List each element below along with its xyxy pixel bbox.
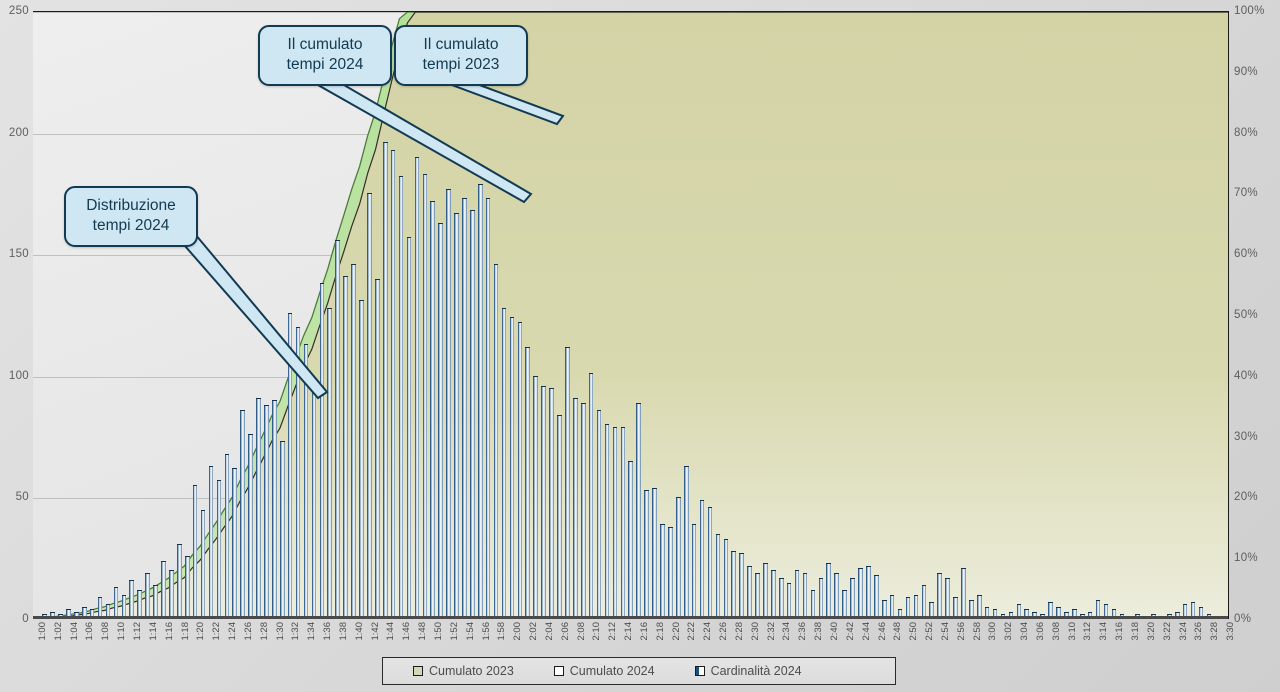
legend-swatch-icon [413, 666, 423, 676]
y-tick-right: 0% [1234, 613, 1251, 625]
x-tick-label: 2:24 [702, 622, 713, 641]
bar [486, 198, 491, 619]
x-tick-label: 2:50 [908, 622, 919, 641]
bar [573, 398, 578, 619]
bar [541, 386, 546, 619]
bar [209, 466, 214, 619]
bar [177, 544, 182, 619]
x-tick-label: 2:20 [671, 622, 682, 641]
x-tick-label: 2:40 [829, 622, 840, 641]
callout-cumulato-2024: Il cumulato tempi 2024 [258, 25, 392, 86]
x-tick-label: 2:14 [623, 622, 634, 641]
bar [811, 590, 816, 619]
bar [874, 575, 879, 619]
y-tick-right: 40% [1234, 370, 1258, 382]
bar [367, 193, 372, 619]
x-tick-label: 3:12 [1082, 622, 1093, 641]
bar [312, 383, 317, 619]
bar [850, 578, 855, 619]
x-tick-label: 3:18 [1130, 622, 1141, 641]
x-tick-label: 2:34 [781, 622, 792, 641]
x-tick-label: 3:24 [1178, 622, 1189, 641]
x-tick-label: 2:58 [972, 622, 983, 641]
bar [430, 201, 435, 619]
bar [842, 590, 847, 619]
bar [201, 510, 206, 619]
x-tick-label: 2:52 [924, 622, 935, 641]
bar [240, 410, 245, 619]
bar [232, 468, 237, 619]
bar [304, 344, 309, 619]
bar [391, 150, 396, 619]
x-tick-label: 3:10 [1067, 622, 1078, 641]
bar [961, 568, 966, 619]
x-tick-label: 3:16 [1114, 622, 1125, 641]
x-tick-label: 1:14 [148, 622, 159, 641]
bar [834, 573, 839, 619]
bar [383, 142, 388, 619]
x-tick-label: 3:22 [1162, 622, 1173, 641]
legend-item[interactable]: Cardinalità 2024 [695, 664, 802, 678]
x-tick-label: 1:24 [227, 622, 238, 641]
bar [272, 400, 277, 619]
bar [462, 198, 467, 619]
x-tick-label: 1:58 [496, 622, 507, 641]
x-tick-label: 2:44 [861, 622, 872, 641]
y-tick-left: 50 [16, 491, 29, 503]
y-tick-left: 100 [9, 370, 29, 382]
y-tick-right: 10% [1234, 552, 1258, 564]
bar [779, 578, 784, 619]
x-tick-label: 2:22 [686, 622, 697, 641]
y-tick-left: 0 [22, 613, 29, 625]
legend-label: Cumulato 2024 [570, 664, 655, 678]
bar [755, 573, 760, 619]
bar [217, 480, 222, 619]
bar [937, 573, 942, 619]
x-tick-label: 3:08 [1051, 622, 1062, 641]
bar [415, 157, 420, 619]
x-tick-label: 3:14 [1098, 622, 1109, 641]
bar [407, 237, 412, 619]
x-tick-label: 1:54 [465, 622, 476, 641]
bar [256, 398, 261, 619]
bar [597, 410, 602, 619]
bar [692, 524, 697, 619]
bar [343, 276, 348, 619]
y-tick-right: 50% [1234, 309, 1258, 321]
y-axis-right-percent: 0%10%20%30%40%50%60%70%80%90%100% [1234, 0, 1280, 692]
bar [225, 454, 230, 619]
x-tick-label: 3:04 [1019, 622, 1030, 641]
bar [296, 327, 301, 619]
bar [668, 527, 673, 619]
x-tick-label: 2:12 [607, 622, 618, 641]
bar [264, 405, 269, 619]
y-tick-left: 250 [9, 5, 29, 17]
chart-root: 050100150200250 0%10%20%30%40%50%60%70%8… [0, 0, 1280, 692]
bar [747, 566, 752, 620]
bar [826, 563, 831, 619]
x-tick-label: 1:18 [180, 622, 191, 641]
bar [739, 553, 744, 619]
y-tick-right: 90% [1234, 66, 1258, 78]
bar [137, 590, 142, 619]
y-tick-left: 200 [9, 127, 29, 139]
legend-swatch-icon [554, 666, 564, 676]
bar [731, 551, 736, 619]
plot-area [33, 11, 1229, 619]
x-tick-label: 1:26 [243, 622, 254, 641]
chart-legend: Cumulato 2023Cumulato 2024Cardinalità 20… [382, 657, 896, 685]
bar [866, 566, 871, 620]
y-axis-left: 050100150200250 [0, 0, 29, 692]
bar [652, 488, 657, 619]
x-tick-label: 3:30 [1225, 622, 1236, 641]
bar [153, 585, 158, 619]
bar [708, 507, 713, 619]
legend-swatch-icon [695, 666, 705, 676]
bar [533, 376, 538, 619]
bar [454, 213, 459, 619]
x-tick-label: 1:22 [211, 622, 222, 641]
bar [716, 534, 721, 619]
callout-distribuzione-2024: Distribuzione tempi 2024 [64, 186, 198, 247]
bar [605, 424, 610, 619]
bar [803, 573, 808, 619]
x-tick-label: 1:44 [385, 622, 396, 641]
y-tick-right: 20% [1234, 491, 1258, 503]
bar [565, 347, 570, 619]
bar [161, 561, 166, 619]
x-tick-label: 1:48 [417, 622, 428, 641]
x-tick-label: 2:36 [797, 622, 808, 641]
x-tick-label: 1:28 [259, 622, 270, 641]
bar [359, 300, 364, 619]
x-tick-label: 1:56 [481, 622, 492, 641]
bar [763, 563, 768, 619]
bar [518, 322, 523, 619]
x-tick-label: 2:16 [639, 622, 650, 641]
bar [589, 373, 594, 619]
x-tick-label: 2:00 [512, 622, 523, 641]
legend-label: Cardinalità 2024 [711, 664, 802, 678]
bar [248, 434, 253, 619]
bar [502, 308, 507, 619]
x-tick-label: 2:30 [750, 622, 761, 641]
x-tick-label: 1:30 [275, 622, 286, 641]
bar [351, 264, 356, 619]
x-tick-label: 2:38 [813, 622, 824, 641]
x-tick-label: 3:00 [987, 622, 998, 641]
y-tick-right: 30% [1234, 431, 1258, 443]
x-tick-label: 1:10 [116, 622, 127, 641]
x-tick-label: 2:32 [766, 622, 777, 641]
bar [945, 578, 950, 619]
bar [644, 490, 649, 619]
bar [129, 580, 134, 619]
bar [446, 189, 451, 619]
y-tick-right: 100% [1234, 5, 1265, 17]
x-tick-label: 2:02 [528, 622, 539, 641]
x-tick-label: 1:36 [322, 622, 333, 641]
bar [327, 308, 332, 619]
legend-item[interactable]: Cumulato 2024 [554, 664, 655, 678]
x-tick-label: 2:54 [940, 622, 951, 641]
x-tick-label: 2:28 [734, 622, 745, 641]
bar [494, 264, 499, 619]
x-tick-label: 1:38 [338, 622, 349, 641]
bar [145, 573, 150, 619]
x-tick-label: 1:46 [401, 622, 412, 641]
bar [193, 485, 198, 619]
bar [169, 570, 174, 619]
x-tick-label: 1:12 [132, 622, 143, 641]
y-tick-right: 60% [1234, 248, 1258, 260]
bar [423, 174, 428, 619]
bar [438, 223, 443, 619]
bar [621, 427, 626, 619]
bar [771, 570, 776, 619]
x-tick-label: 2:42 [845, 622, 856, 641]
x-tick-label: 2:06 [560, 622, 571, 641]
x-tick-label: 1:34 [306, 622, 317, 641]
x-tick-label: 3:28 [1209, 622, 1220, 641]
x-tick-label: 1:16 [164, 622, 175, 641]
bar [549, 388, 554, 619]
bar [185, 556, 190, 619]
x-axis-labels: 1:001:021:041:061:081:101:121:141:161:18… [33, 620, 1229, 656]
bar [557, 415, 562, 619]
bar [280, 441, 285, 619]
x-tick-label: 3:02 [1003, 622, 1014, 641]
x-tick-label: 2:56 [956, 622, 967, 641]
bar [613, 427, 618, 619]
axis-baseline [33, 616, 1228, 619]
bar [581, 403, 586, 619]
bar [288, 313, 293, 619]
y-tick-right: 80% [1234, 127, 1258, 139]
bar [470, 210, 475, 619]
x-tick-label: 1:02 [53, 622, 64, 641]
x-tick-label: 2:48 [892, 622, 903, 641]
x-tick-label: 1:04 [69, 622, 80, 641]
x-tick-label: 1:06 [84, 622, 95, 641]
bar [636, 403, 641, 619]
bar [922, 585, 927, 619]
x-tick-label: 1:50 [433, 622, 444, 641]
x-tick-label: 1:08 [100, 622, 111, 641]
bar [510, 317, 515, 619]
bar [660, 524, 665, 619]
bar [375, 279, 380, 619]
x-tick-label: 1:20 [195, 622, 206, 641]
x-tick-label: 1:40 [354, 622, 365, 641]
x-tick-label: 3:06 [1035, 622, 1046, 641]
x-tick-label: 2:04 [544, 622, 555, 641]
x-tick-label: 3:26 [1193, 622, 1204, 641]
bar [676, 497, 681, 619]
x-tick-label: 2:46 [877, 622, 888, 641]
x-tick-label: 2:26 [718, 622, 729, 641]
bar [795, 570, 800, 619]
bar [320, 283, 325, 619]
x-tick-label: 1:00 [37, 622, 48, 641]
x-tick-label: 1:32 [290, 622, 301, 641]
bar [684, 466, 689, 619]
bar [724, 539, 729, 619]
x-tick-label: 2:18 [655, 622, 666, 641]
x-tick-label: 1:42 [370, 622, 381, 641]
bar [335, 240, 340, 619]
bar [700, 500, 705, 619]
bar [114, 587, 119, 619]
bar [525, 347, 530, 619]
x-tick-label: 3:20 [1146, 622, 1157, 641]
x-tick-label: 1:52 [449, 622, 460, 641]
bar [478, 184, 483, 619]
bar [787, 583, 792, 619]
bar [819, 578, 824, 619]
x-tick-label: 2:10 [591, 622, 602, 641]
bar [399, 176, 404, 619]
bar [628, 461, 633, 619]
legend-label: Cumulato 2023 [429, 664, 514, 678]
x-tick-label: 2:08 [576, 622, 587, 641]
bars-cardinalita-2024 [33, 12, 1228, 619]
legend-item[interactable]: Cumulato 2023 [413, 664, 514, 678]
bar [858, 568, 863, 619]
y-tick-right: 70% [1234, 187, 1258, 199]
y-tick-left: 150 [9, 248, 29, 260]
callout-cumulato-2023: Il cumulato tempi 2023 [394, 25, 528, 86]
